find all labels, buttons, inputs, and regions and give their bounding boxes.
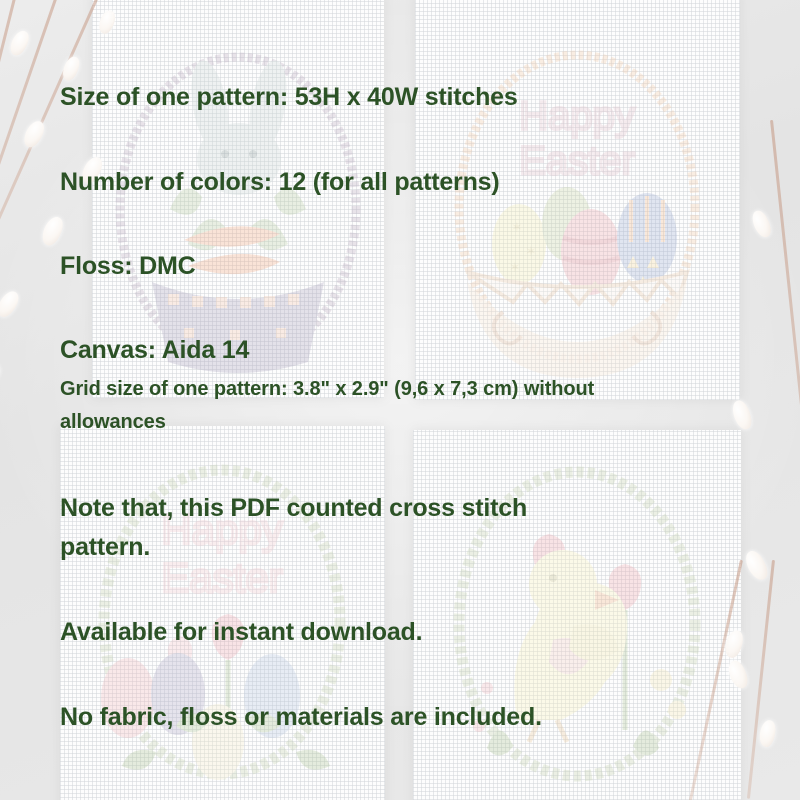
text-no-fabric-included: No fabric, floss or materials are includ… <box>60 703 542 732</box>
description-text-block: Size of one pattern: 53H x 40W stitches … <box>0 0 800 800</box>
poster-canvas: Happy Easter ✶✶ ✶ <box>0 0 800 800</box>
text-canvas: Canvas: Aida 14 <box>60 336 249 365</box>
text-number-of-colors: Number of colors: 12 (for all patterns) <box>60 168 500 197</box>
text-note-line2: pattern. <box>60 533 150 562</box>
text-size-of-one-pattern: Size of one pattern: 53H x 40W stitches <box>60 83 518 112</box>
text-note-line1: Note that, this PDF counted cross stitch <box>60 494 527 523</box>
text-grid-size-line2: allowances <box>60 411 166 434</box>
text-grid-size-line1: Grid size of one pattern: 3.8" x 2.9" (9… <box>60 378 594 401</box>
text-floss: Floss: DMC <box>60 252 196 281</box>
text-available-download: Available for instant download. <box>60 618 422 647</box>
